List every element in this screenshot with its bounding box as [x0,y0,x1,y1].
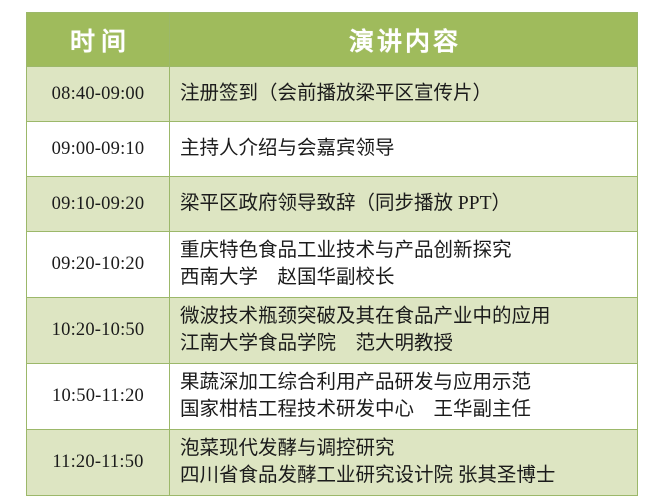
cell-time: 10:20-10:50 [27,298,170,364]
table-row: 09:10-09:20 梁平区政府领导致辞（同步播放 PPT） [27,177,638,232]
table-row: 09:00-09:10 主持人介绍与会嘉宾领导 [27,122,638,177]
content-line: 注册签到（会前播放梁平区宣传片） [180,81,637,107]
cell-content: 泡菜现代发酵与调控研究 四川省食品发酵工业研究设计院 张其圣博士 [170,430,638,496]
content-line: 梁平区政府领导致辞（同步播放 PPT） [180,191,637,217]
content-line: 主持人介绍与会嘉宾领导 [180,136,637,162]
column-header-content: 演讲内容 [170,13,638,67]
content-line-speaker: 国家柑桔工程技术研发中心 王华副主任 [180,397,637,423]
content-line-speaker: 江南大学食品学院 范大明教授 [180,331,637,357]
table-header: 时间 演讲内容 [27,13,638,67]
cell-time: 09:10-09:20 [27,177,170,232]
table-row: 11:20-11:50 泡菜现代发酵与调控研究 四川省食品发酵工业研究设计院 张… [27,430,638,496]
content-line-speaker: 四川省食品发酵工业研究设计院 张其圣博士 [180,463,637,489]
cell-content: 果蔬深加工综合利用产品研发与应用示范 国家柑桔工程技术研发中心 王华副主任 [170,364,638,430]
cell-content: 重庆特色食品工业技术与产品创新探究 西南大学 赵国华副校长 [170,232,638,298]
cell-content: 微波技术瓶颈突破及其在食品产业中的应用 江南大学食品学院 范大明教授 [170,298,638,364]
column-header-time: 时间 [27,13,170,67]
content-line-title: 重庆特色食品工业技术与产品创新探究 [180,238,637,264]
cell-content: 梁平区政府领导致辞（同步播放 PPT） [170,177,638,232]
page-canvas: 时间 演讲内容 08:40-09:00 注册签到（会前播放梁平区宣传片） 09:… [0,0,652,492]
content-line-title: 微波技术瓶颈突破及其在食品产业中的应用 [180,304,637,330]
content-line-speaker: 西南大学 赵国华副校长 [180,265,637,291]
cell-time: 09:00-09:10 [27,122,170,177]
cell-time: 10:50-11:20 [27,364,170,430]
cell-time: 09:20-10:20 [27,232,170,298]
cell-content: 注册签到（会前播放梁平区宣传片） [170,67,638,122]
table-body: 08:40-09:00 注册签到（会前播放梁平区宣传片） 09:00-09:10… [27,67,638,496]
agenda-schedule-table: 时间 演讲内容 08:40-09:00 注册签到（会前播放梁平区宣传片） 09:… [26,12,638,496]
cell-time: 11:20-11:50 [27,430,170,496]
table-row: 08:40-09:00 注册签到（会前播放梁平区宣传片） [27,67,638,122]
cell-time: 08:40-09:00 [27,67,170,122]
table-row: 10:50-11:20 果蔬深加工综合利用产品研发与应用示范 国家柑桔工程技术研… [27,364,638,430]
table-header-row: 时间 演讲内容 [27,13,638,67]
content-line-title: 果蔬深加工综合利用产品研发与应用示范 [180,370,637,396]
table-row: 10:20-10:50 微波技术瓶颈突破及其在食品产业中的应用 江南大学食品学院… [27,298,638,364]
content-line-title: 泡菜现代发酵与调控研究 [180,436,637,462]
cell-content: 主持人介绍与会嘉宾领导 [170,122,638,177]
table-row: 09:20-10:20 重庆特色食品工业技术与产品创新探究 西南大学 赵国华副校… [27,232,638,298]
